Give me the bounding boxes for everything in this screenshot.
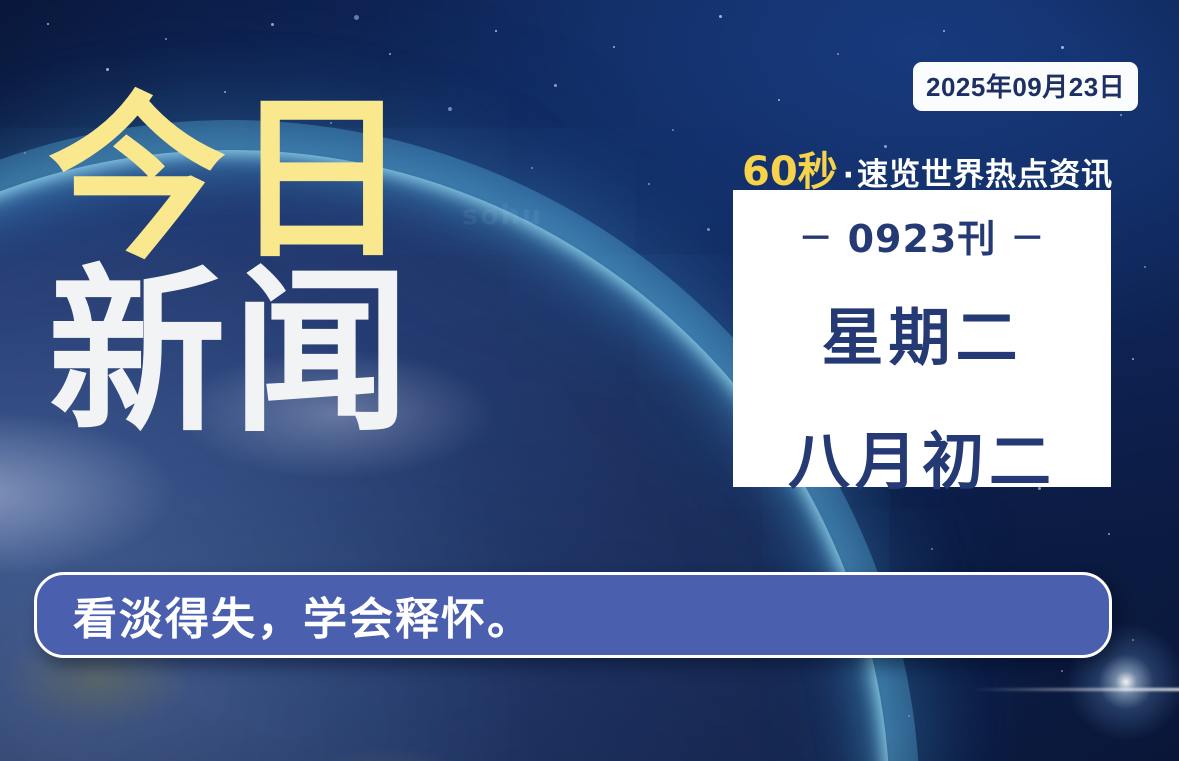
page-title: 今日 新闻 (48, 96, 416, 437)
lens-flare-streak (971, 688, 1179, 691)
quote-text: 看淡得失，学会释怀。 (73, 583, 533, 647)
info-card: － 0923刊 － 星期二 八月初二 (733, 190, 1111, 487)
issue-dash-left: － (799, 211, 834, 260)
quote-bar: 看淡得失，学会释怀。 (34, 572, 1112, 658)
weekday-label: 星期二 (821, 287, 1022, 377)
issue-number: 0923刊 (848, 208, 997, 263)
issue-row: － 0923刊 － (799, 208, 1046, 263)
tagline-description: 速览世界热点资讯 (857, 157, 1113, 193)
lunar-date-label: 八月初二 (788, 411, 1056, 501)
date-badge: 2025年09月23日 (913, 62, 1138, 111)
tagline-seconds: 60秒 (742, 149, 838, 195)
headline-line-today: 今日 (48, 96, 416, 263)
issue-dash-right: － (1010, 211, 1045, 260)
watermark: sohu (462, 200, 543, 231)
tagline-separator: · (843, 158, 854, 193)
poster-canvas: sohu 今日 新闻 2025年09月23日 60秒·速览世界热点资讯 － 09… (0, 0, 1179, 761)
tagline: 60秒·速览世界热点资讯 (742, 139, 1113, 197)
headline-line-news: 新闻 (48, 269, 416, 436)
